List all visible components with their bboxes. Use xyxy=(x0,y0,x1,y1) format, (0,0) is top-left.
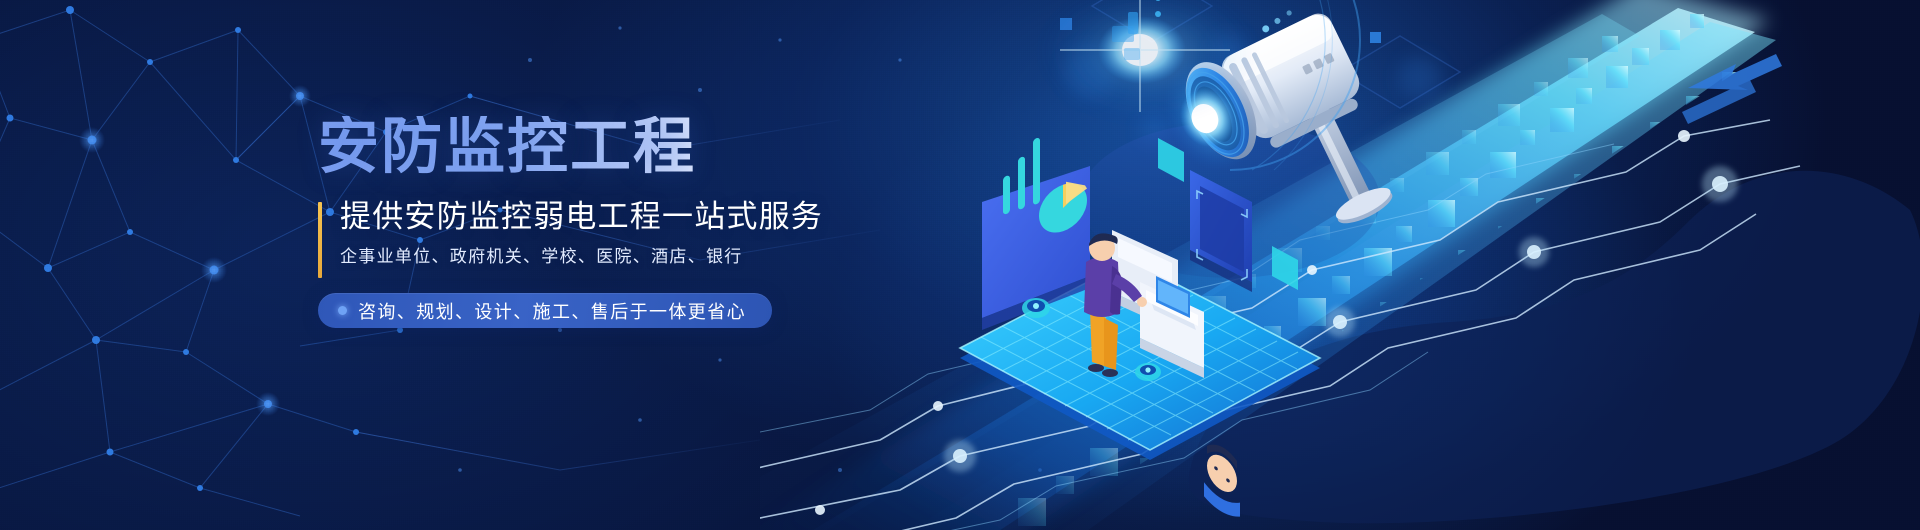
page-title: 安防监控工程 xyxy=(318,116,938,177)
bar-chart xyxy=(1003,137,1040,215)
service-pill-label: 咨询、规划、设计、施工、售后于一体更省心 xyxy=(358,298,746,324)
tagline: 企事业单位、政府机关、学校、医院、酒店、银行 xyxy=(340,247,938,267)
accent-bar xyxy=(318,202,322,278)
subtitle-block: 提供安防监控弱电工程一站式服务 企事业单位、政府机关、学校、医院、酒店、银行 xyxy=(318,200,938,267)
service-pill-badge[interactable]: 咨询、规划、设计、施工、售后于一体更省心 xyxy=(318,293,772,328)
headline-block: 安防监控工程 提供安防监控弱电工程一站式服务 企事业单位、政府机关、学校、医院、… xyxy=(318,116,938,328)
bullet-dot-icon xyxy=(338,306,347,315)
security-monitoring-banner: 安防监控工程 提供安防监控弱电工程一站式服务 企事业单位、政府机关、学校、医院、… xyxy=(0,0,1920,530)
subtitle: 提供安防监控弱电工程一站式服务 xyxy=(340,200,938,235)
